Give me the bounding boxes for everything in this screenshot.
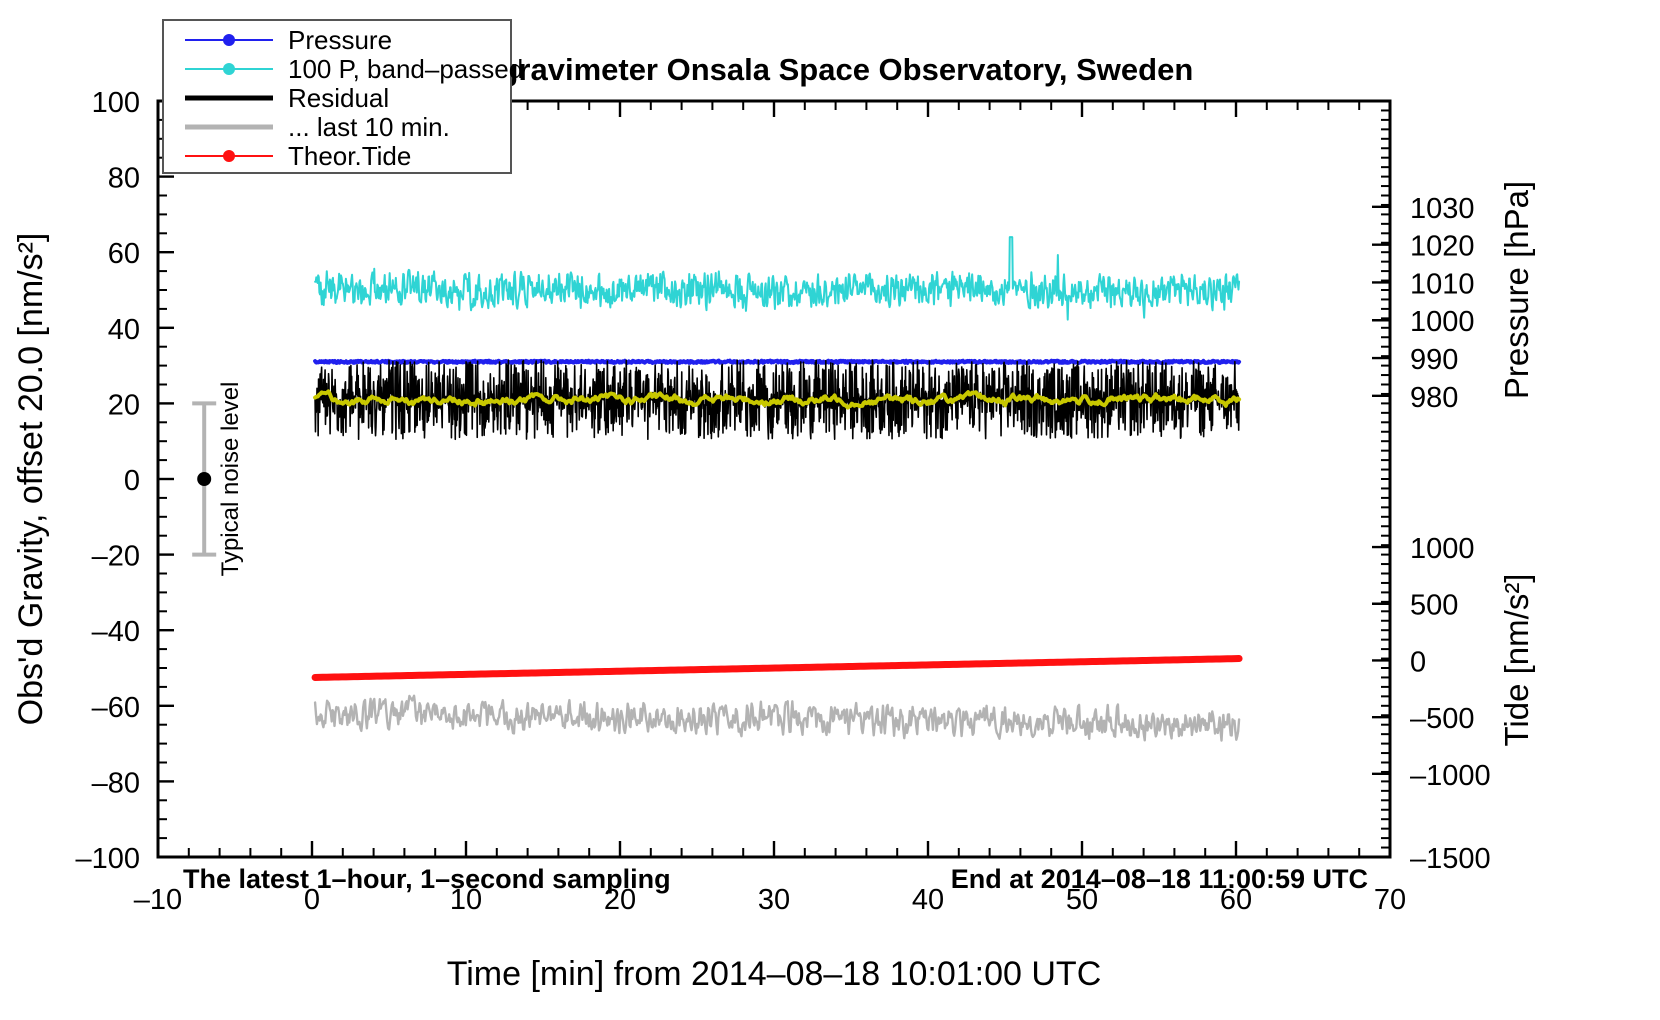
x-tick-label: 70 — [1374, 884, 1406, 916]
pressure-tick-label: 1030 — [1410, 193, 1475, 225]
tide-tick-label: –1000 — [1410, 760, 1491, 792]
y-axis-left-label: Obs'd Gravity, offset 20.0 [nm/s²] — [12, 233, 50, 726]
y-tick-label: 20 — [108, 389, 140, 421]
annotation-bottom-left: The latest 1–hour, 1–second sampling — [183, 864, 671, 894]
x-axis-label: Time [min] from 2014–08–18 10:01:00 UTC — [447, 955, 1102, 993]
pressure-tick-label: 990 — [1410, 344, 1458, 376]
y-tick-label: –80 — [92, 767, 140, 799]
y-axis-tide-label: Tide [nm/s²] — [1498, 574, 1535, 747]
tide-tick-label: 1000 — [1410, 533, 1475, 565]
x-tick-label: 30 — [758, 884, 790, 916]
y-tick-label: –60 — [92, 692, 140, 724]
legend-swatch-marker — [223, 150, 235, 162]
tide-tick-label: 0 — [1410, 646, 1426, 678]
legend-item-label: Pressure — [288, 25, 392, 55]
pressure-tick-label: 980 — [1410, 382, 1458, 414]
legend-item-label: Theor.Tide — [288, 141, 411, 171]
legend-swatch-marker — [223, 63, 235, 75]
y-tick-label: –40 — [92, 616, 140, 648]
tide-tick-label: –500 — [1410, 703, 1475, 735]
annotation-bottom-right: End at 2014–08–18 11:00:59 UTC — [951, 864, 1368, 894]
tide-tick-label: –1500 — [1410, 843, 1491, 875]
y-tick-label: –100 — [75, 843, 140, 875]
y-tick-label: 0 — [124, 465, 140, 497]
noise-center-dot — [197, 472, 211, 486]
legend-swatch-marker — [223, 34, 235, 46]
y-tick-label: 60 — [108, 238, 140, 270]
pressure-tick-label: 1020 — [1410, 231, 1475, 263]
trace-pressure — [315, 361, 1239, 363]
y-tick-label: 100 — [92, 87, 140, 119]
tide-tick-label: 500 — [1410, 590, 1458, 622]
y-axis-pressure-label: Pressure [hPa] — [1498, 181, 1535, 399]
figure-canvas: –10010203040506070100806040200–20–40–60–… — [0, 0, 1660, 1020]
legend: Pressure100 P, band–passedResidual... la… — [163, 20, 523, 173]
legend-item-label: ... last 10 min. — [288, 112, 450, 142]
legend-item-label: Residual — [288, 83, 389, 113]
x-tick-label: 40 — [912, 884, 944, 916]
y-tick-label: –20 — [92, 541, 140, 573]
noise-marker-label: Typical noise level — [217, 382, 244, 577]
x-tick-label: –10 — [134, 884, 182, 916]
gravimeter-plot: –10010203040506070100806040200–20–40–60–… — [0, 0, 1660, 1020]
pressure-tick-label: 1000 — [1410, 306, 1475, 338]
pressure-tick-label: 1010 — [1410, 268, 1475, 300]
y-tick-label: 40 — [108, 314, 140, 346]
y-tick-label: 80 — [108, 163, 140, 195]
legend-item-label: 100 P, band–passed — [288, 54, 523, 84]
